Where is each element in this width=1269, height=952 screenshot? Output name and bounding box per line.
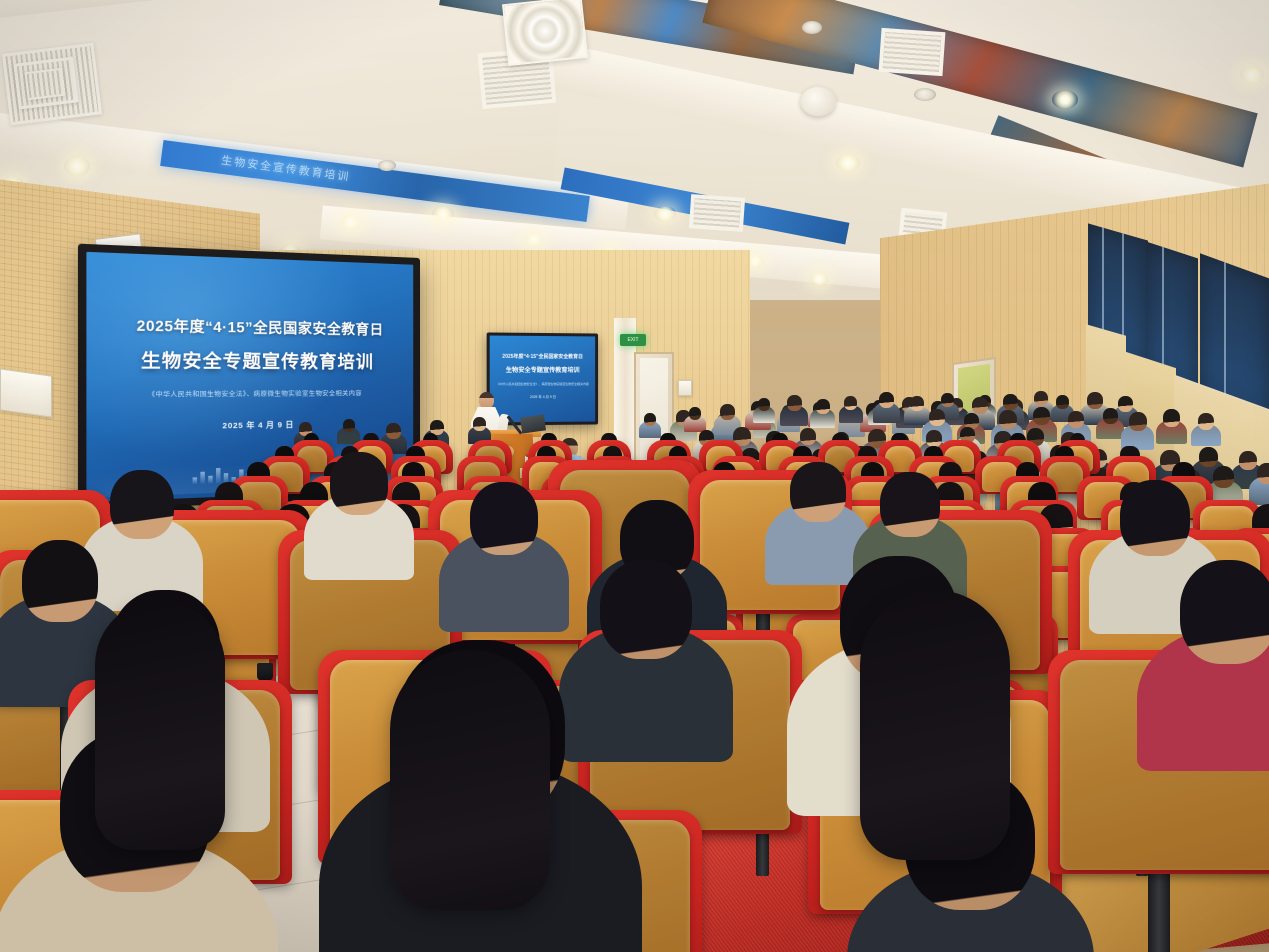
audience-member-head bbox=[644, 413, 656, 426]
audience-member-head bbox=[879, 392, 894, 408]
audience-member bbox=[644, 413, 656, 437]
audience-member-foreground bbox=[600, 560, 692, 744]
audience-member-head bbox=[1033, 407, 1050, 425]
audience-member-long-hair bbox=[95, 600, 225, 850]
audience-member-head bbox=[800, 428, 816, 445]
audience-member-head bbox=[1034, 391, 1048, 406]
audience-member-head bbox=[1056, 395, 1069, 409]
audience-member bbox=[758, 398, 770, 422]
seat-cup-holder bbox=[257, 663, 273, 681]
audience-member bbox=[910, 396, 924, 424]
audience-member-foreground bbox=[110, 470, 174, 598]
audience-member bbox=[787, 395, 802, 425]
audience-member bbox=[844, 396, 857, 422]
audience-member-head bbox=[844, 396, 857, 410]
audience-member-head bbox=[1068, 411, 1084, 428]
audience-member-head bbox=[999, 410, 1017, 429]
audience-member-head bbox=[972, 397, 988, 414]
audience-member-head bbox=[110, 470, 174, 539]
audience-member-foreground bbox=[790, 462, 846, 574]
audience-member-head bbox=[790, 462, 846, 522]
audience-member-head bbox=[910, 396, 924, 411]
audience-member-head bbox=[926, 430, 942, 447]
audience-member-foreground bbox=[330, 452, 388, 568]
audience-member bbox=[689, 407, 701, 431]
audience-member-head bbox=[758, 398, 770, 411]
audience-member bbox=[816, 399, 830, 427]
audience-member-head bbox=[1199, 447, 1218, 467]
audience-member-head bbox=[1163, 409, 1180, 427]
audience-member-head bbox=[720, 404, 735, 420]
audience-member bbox=[879, 392, 894, 422]
audience-member bbox=[343, 419, 355, 443]
audience-member-head bbox=[787, 395, 802, 411]
seat-pedestal bbox=[1148, 866, 1170, 952]
audience-member bbox=[1257, 463, 1269, 503]
audience-member-foreground bbox=[22, 540, 98, 692]
audience-member-head bbox=[343, 419, 355, 432]
audience-member-head bbox=[816, 399, 830, 414]
audience-member-head bbox=[1118, 396, 1133, 412]
audience-member-head bbox=[929, 409, 945, 426]
audience-member-head bbox=[386, 423, 401, 439]
audience-member-long-hair bbox=[860, 590, 1010, 860]
audience-member-head bbox=[473, 417, 486, 431]
audience-member-head bbox=[880, 472, 940, 537]
audience-member bbox=[1103, 408, 1118, 438]
audience-member-head bbox=[1003, 394, 1018, 410]
audience-member-foreground bbox=[470, 482, 538, 618]
auditorium-photo: 生物安全宣传教育培训 EXIT bbox=[0, 0, 1269, 952]
audience-member-foreground bbox=[1180, 560, 1269, 752]
audience-member-head bbox=[470, 482, 538, 555]
audience-member-head bbox=[689, 407, 701, 420]
audience-member-head bbox=[330, 452, 388, 515]
audience-member-head bbox=[1120, 480, 1190, 556]
audience-member-head bbox=[600, 560, 692, 659]
audience-member-head bbox=[22, 540, 98, 622]
audience-member-head bbox=[941, 393, 954, 407]
audience-member-long-hair bbox=[390, 650, 550, 910]
audience-member-head bbox=[1239, 451, 1257, 470]
audience-member-head bbox=[1103, 408, 1118, 424]
audience-member-head bbox=[1257, 463, 1269, 484]
audience-member bbox=[1163, 409, 1180, 443]
audience-member-head bbox=[1213, 466, 1234, 488]
audience-member bbox=[1129, 412, 1147, 448]
audience-member bbox=[1198, 413, 1214, 445]
audience-member-head bbox=[1198, 413, 1214, 430]
audience-member-head bbox=[1087, 392, 1103, 409]
audience-member-head bbox=[1180, 560, 1269, 664]
audience-member-head bbox=[1129, 412, 1147, 431]
